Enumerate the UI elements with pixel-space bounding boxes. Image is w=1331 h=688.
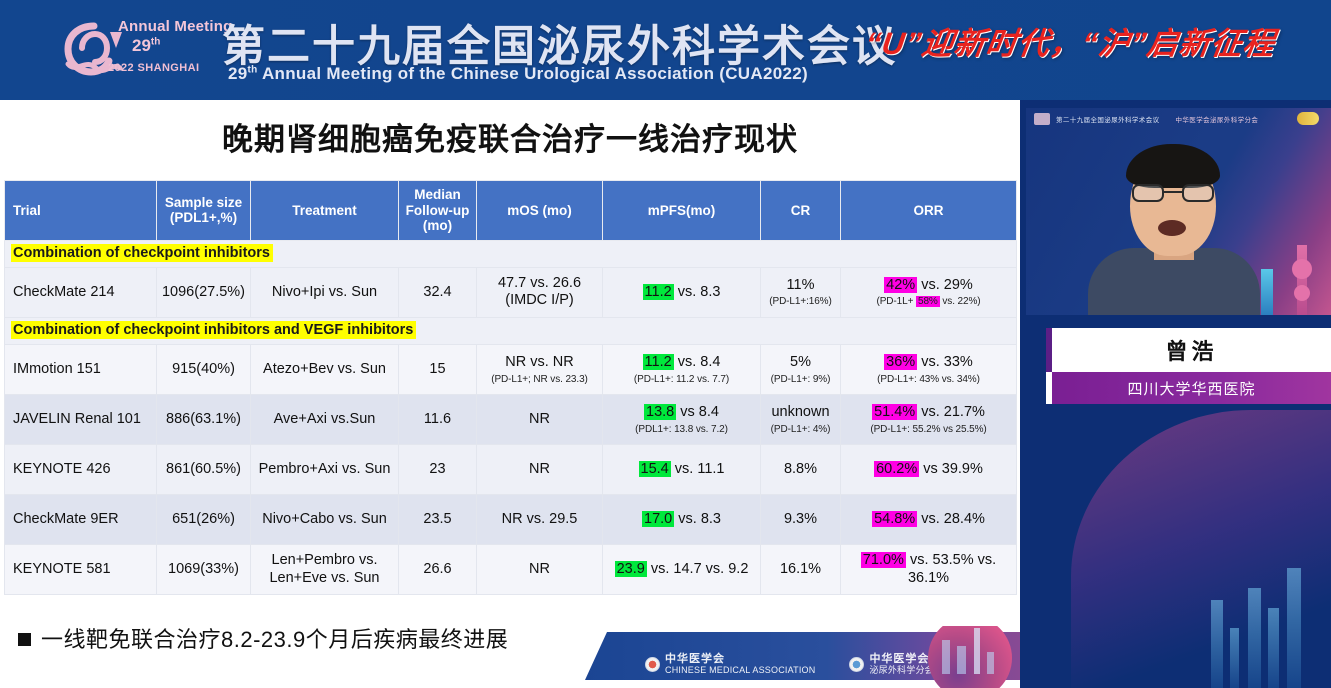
video-overlay-banner: 第二十九届全国泌尿外科学术会议 中华医学会泌尿外科学分会	[1026, 108, 1331, 130]
presentation-slide: 晚期肾细胞癌免疫联合治疗一线治疗现状 Trial Sample size (PD…	[0, 100, 1020, 688]
col-header-treatment: Treatment	[251, 181, 399, 241]
table-section-row: Combination of checkpoint inhibitors and…	[5, 317, 1017, 344]
cell-sample-size: 1096(27.5%)	[157, 267, 251, 317]
speaker-mouth	[1158, 220, 1186, 236]
cell-sample-size: 915(40%)	[157, 345, 251, 395]
cell-orr: 60.2% vs 39.9%	[841, 445, 1017, 495]
conference-banner: Annual Meeting 29th 2022 SHANGHAI 第二十九届全…	[0, 0, 1331, 100]
cell-orr: 71.0% vs. 53.5% vs. 36.1%	[841, 545, 1017, 595]
video-panel: 第二十九届全国泌尿外科学术会议 中华医学会泌尿外科学分会 曾浩	[1020, 100, 1331, 688]
cua-small-emblem-icon	[849, 657, 864, 672]
cell-sample-size: 1069(33%)	[157, 545, 251, 595]
logo-year-city: 2022 SHANGHAI	[108, 62, 199, 74]
cell-treatment: Len+Pembro vs.Len+Eve vs. Sun	[251, 545, 399, 595]
col-header-cr: CR	[761, 181, 841, 241]
cell-mos: NR	[477, 545, 603, 595]
speaker-hair	[1126, 144, 1220, 188]
table-row: KEYNOTE 5811069(33%)Len+Pembro vs.Len+Ev…	[5, 545, 1017, 595]
screen-root: Annual Meeting 29th 2022 SHANGHAI 第二十九届全…	[0, 0, 1331, 688]
cell-treatment: Atezo+Bev vs. Sun	[251, 345, 399, 395]
footer-logo-row: 中华医学会CHINESE MEDICAL ASSOCIATION 中华医学会泌尿…	[645, 654, 934, 675]
deco-circle	[928, 626, 1012, 688]
cell-cr: 5%(PD-L1+: 9%)	[761, 345, 841, 395]
panel-background-decoration	[1020, 410, 1331, 688]
slide-title: 晚期肾细胞癌免疫联合治疗一线治疗现状	[0, 114, 1020, 159]
cell-cr: unknown(PD-L1+: 4%)	[761, 395, 841, 445]
bullet-square-icon	[18, 633, 31, 646]
table-row: JAVELIN Renal 101886(63.1%)Ave+Axi vs.Su…	[5, 395, 1017, 445]
speaker-glasses-icon	[1132, 184, 1214, 202]
slide-decoration: 中华医学会CHINESE MEDICAL ASSOCIATION 中华医学会泌尿…	[560, 626, 1020, 688]
footer-logo-cua: 中华医学会泌尿外科学分会	[849, 654, 933, 675]
cell-mpfs: 13.8 vs 8.4(PDL1+: 13.8 vs. 7.2)	[603, 395, 761, 445]
cell-mos: NR vs. 29.5	[477, 495, 603, 545]
cell-treatment: Nivo+Cabo vs. Sun	[251, 495, 399, 545]
cell-followup: 26.6	[399, 545, 477, 595]
deco-skyline-3	[942, 640, 950, 674]
speaker-name: 曾浩	[1165, 334, 1217, 366]
footer-logo-cma: 中华医学会CHINESE MEDICAL ASSOCIATION	[645, 654, 815, 675]
cma-emblem-icon	[645, 657, 660, 672]
cell-cr: 16.1%	[761, 545, 841, 595]
cell-trial: IMmotion 151	[5, 345, 157, 395]
speaker-affiliation: 四川大学华西医院	[1127, 378, 1255, 399]
cell-trial: CheckMate 9ER	[5, 495, 157, 545]
cell-mos: NR	[477, 445, 603, 495]
cell-orr: 36% vs. 33%(PD-L1+: 43% vs. 34%)	[841, 345, 1017, 395]
cell-followup: 15	[399, 345, 477, 395]
deco-skyline-1	[974, 628, 980, 674]
section-label: Combination of checkpoint inhibitors and…	[5, 317, 1017, 344]
cell-mpfs: 23.9 vs. 14.7 vs. 9.2	[603, 545, 761, 595]
table-section-row: Combination of checkpoint inhibitors	[5, 240, 1017, 267]
panel-skyline-5	[1211, 600, 1223, 688]
col-header-median-followup: Median Follow-up (mo)	[399, 181, 477, 241]
video-cua-logo-icon	[1034, 113, 1050, 125]
section-label: Combination of checkpoint inhibitors	[5, 240, 1017, 267]
table-row: CheckMate 9ER651(26%)Nivo+Cabo vs. Sun23…	[5, 495, 1017, 545]
table-row: IMmotion 151915(40%)Atezo+Bev vs. Sun15N…	[5, 345, 1017, 395]
col-header-orr: ORR	[841, 181, 1017, 241]
panel-skyline-1	[1287, 568, 1301, 688]
deco-skyline-4	[987, 652, 994, 674]
cell-treatment: Ave+Axi vs.Sun	[251, 395, 399, 445]
banner-slogan: “U”迎新时代，“沪”启新征程	[863, 18, 1279, 63]
cell-mpfs: 15.4 vs. 11.1	[603, 445, 761, 495]
cell-sample-size: 651(26%)	[157, 495, 251, 545]
clinical-trials-table: Trial Sample size (PDL1+,%) Treatment Me…	[4, 180, 1017, 595]
cell-mos: NR vs. NR(PD-L1+; NR vs. 23.3)	[477, 345, 603, 395]
cell-trial: JAVELIN Renal 101	[5, 395, 157, 445]
cell-trial: KEYNOTE 426	[5, 445, 157, 495]
table-row: CheckMate 2141096(27.5%)Nivo+Ipi vs. Sun…	[5, 267, 1017, 317]
cell-followup: 32.4	[399, 267, 477, 317]
speaker-video-feed[interactable]: 第二十九届全国泌尿外科学术会议 中华医学会泌尿外科学分会	[1026, 108, 1331, 315]
table-body: Combination of checkpoint inhibitorsChec…	[5, 240, 1017, 595]
deco-skyline-2	[957, 646, 966, 674]
cell-followup: 11.6	[399, 395, 477, 445]
col-header-mos: mOS (mo)	[477, 181, 603, 241]
cell-orr: 54.8% vs. 28.4%	[841, 495, 1017, 545]
cell-treatment: Nivo+Ipi vs. Sun	[251, 267, 399, 317]
cell-sample-size: 886(63.1%)	[157, 395, 251, 445]
cell-cr: 8.8%	[761, 445, 841, 495]
cell-mos: NR	[477, 395, 603, 445]
logo-annual-meeting-text: Annual Meeting	[118, 18, 232, 35]
panel-skyline-3	[1248, 588, 1261, 688]
table-header-row: Trial Sample size (PDL1+,%) Treatment Me…	[5, 181, 1017, 241]
video-skyline-1	[1261, 269, 1273, 315]
slide-bullet-point: 一线靶免联合治疗8.2-23.9个月后疾病最终进展	[18, 622, 508, 654]
speaker-nameplate: 曾浩	[1046, 328, 1331, 372]
cell-cr: 11%(PD-L1+:16%)	[761, 267, 841, 317]
cell-orr: 42% vs. 29%(PD-1L+ 58% vs. 22%)	[841, 267, 1017, 317]
cell-treatment: Pembro+Axi vs. Sun	[251, 445, 399, 495]
video-badge-icon	[1297, 112, 1319, 125]
cell-followup: 23	[399, 445, 477, 495]
cell-sample-size: 861(60.5%)	[157, 445, 251, 495]
col-header-trial: Trial	[5, 181, 157, 241]
cell-trial: CheckMate 214	[5, 267, 157, 317]
cua-logo: Annual Meeting 29th 2022 SHANGHAI	[60, 14, 208, 86]
table-row: KEYNOTE 426861(60.5%)Pembro+Axi vs. Sun2…	[5, 445, 1017, 495]
cell-mpfs: 11.2 vs. 8.3	[603, 267, 761, 317]
panel-skyline-2	[1268, 608, 1279, 688]
banner-title-english: 29th Annual Meeting of the Chinese Urolo…	[228, 64, 808, 84]
cell-cr: 9.3%	[761, 495, 841, 545]
cell-mpfs: 11.2 vs. 8.4(PD-L1+: 11.2 vs. 7.7)	[603, 345, 761, 395]
logo-edition-number: 29th	[132, 36, 160, 56]
cell-mpfs: 17.0 vs. 8.3	[603, 495, 761, 545]
slide-footer: 一线靶免联合治疗8.2-23.9个月后疾病最终进展 中华医学会CHINESE M…	[0, 610, 1020, 688]
speaker-affiliation-bar: 四川大学华西医院	[1046, 372, 1331, 404]
cell-mos: 47.7 vs. 26.6(IMDC I/P)	[477, 267, 603, 317]
panel-skyline-4	[1230, 628, 1239, 688]
cell-followup: 23.5	[399, 495, 477, 545]
col-header-mpfs: mPFS(mo)	[603, 181, 761, 241]
oriental-pearl-tower-icon	[1297, 245, 1307, 315]
cell-trial: KEYNOTE 581	[5, 545, 157, 595]
col-header-sample-size: Sample size (PDL1+,%)	[157, 181, 251, 241]
cell-orr: 51.4% vs. 21.7%(PD-L1+: 55.2% vs 25.5%)	[841, 395, 1017, 445]
